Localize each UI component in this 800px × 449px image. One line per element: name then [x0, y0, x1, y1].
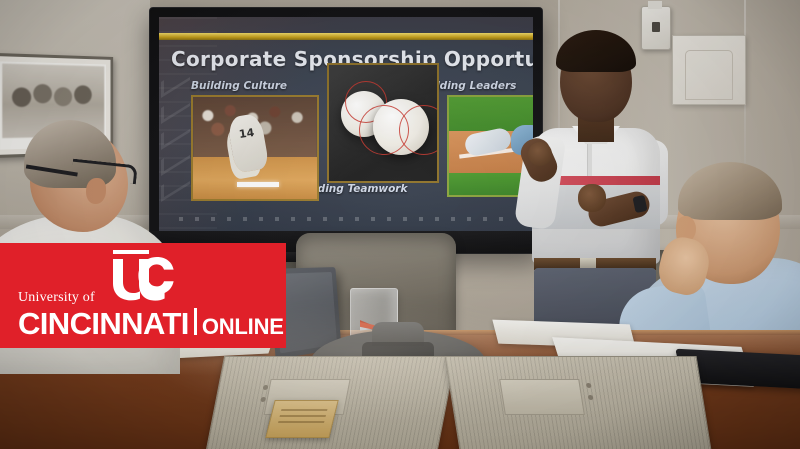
wordmark-divider [194, 308, 197, 335]
presentation-display: Corporate Sponsorship Opportunities Buil… [150, 8, 542, 253]
sensor-lens [652, 22, 660, 32]
wordmark-row: CINCINNATI ONLINE [18, 307, 284, 339]
university-of-text: University of [18, 291, 95, 305]
wall-sensor-icon [641, 6, 671, 50]
table-coaster [265, 400, 338, 438]
display-bezel [150, 8, 542, 253]
sensor-stem [648, 1, 662, 9]
uc-monogram-icon [96, 248, 180, 304]
presenter-left-hand [528, 142, 552, 166]
access-panel [672, 35, 746, 105]
presenter-right-hand [578, 184, 606, 212]
cincinnati-text: CINCINNATI [18, 308, 189, 339]
uc-online-banner: University of CINCINNATI ONLINE [0, 243, 286, 348]
tray-port-plate [499, 379, 585, 415]
attendee-left-ear [86, 178, 106, 204]
coaster-texture [277, 409, 327, 427]
online-text: ONLINE [202, 316, 284, 338]
table-cable-tray [445, 356, 712, 449]
screenshot-root: Corporate Sponsorship Opportunities Buil… [0, 0, 800, 449]
